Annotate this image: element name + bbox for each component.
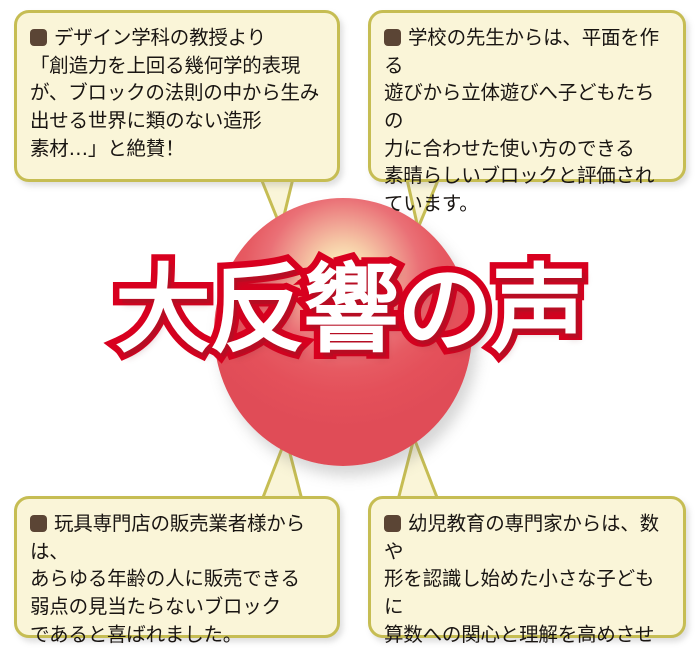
bubble-body: デザイン学科の教授より 「創造力を上回る幾何学的表現 が、ブロックの法則の中から… (30, 24, 324, 162)
bubble-body: 学校の先生からは、平面を作る 遊びから立体遊びへ子どもたちの 力に合わせた使い方… (384, 24, 670, 218)
testimonial-bubble-top-left: デザイン学科の教授より 「創造力を上回る幾何学的表現 が、ブロックの法則の中から… (14, 10, 340, 182)
headline-container: 大反響の声 (0, 262, 700, 392)
testimonial-bubble-bottom-left: 玩具専門店の販売業者様からは、 あらゆる年齢の人に販売できる 弱点の見当たらない… (14, 496, 340, 638)
testimonial-text: 玩具専門店の販売業者様からは、 あらゆる年齢の人に販売できる 弱点の見当たらない… (30, 510, 324, 648)
tail-bottom-left (262, 438, 302, 500)
bubble-body: 幼児教育の専門家からは、数や 形を認識し始めた小さな子どもに 算数への関心と理解… (384, 510, 670, 650)
headline-text: 大反響の声 (0, 262, 700, 358)
testimonial-bubble-bottom-right: 幼児教育の専門家からは、数や 形を認識し始めた小さな子どもに 算数への関心と理解… (368, 496, 686, 638)
testimonial-text: デザイン学科の教授より 「創造力を上回る幾何学的表現 が、ブロックの法則の中から… (30, 24, 319, 162)
center-sphere (214, 198, 472, 466)
poster-canvas: 大反響の声 デザイン学科の教授より 「創造力を上回る幾何学的表現 が、ブロックの… (0, 0, 700, 650)
tail-bottom-right (398, 438, 438, 500)
bubble-body: 玩具専門店の販売業者様からは、 あらゆる年齢の人に販売できる 弱点の見当たらない… (30, 510, 324, 648)
testimonial-text: 学校の先生からは、平面を作る 遊びから立体遊びへ子どもたちの 力に合わせた使い方… (384, 24, 670, 218)
testimonial-text: 幼児教育の専門家からは、数や 形を認識し始めた小さな子どもに 算数への関心と理解… (384, 510, 670, 650)
testimonial-bubble-top-right: 学校の先生からは、平面を作る 遊びから立体遊びへ子どもたちの 力に合わせた使い方… (368, 10, 686, 182)
